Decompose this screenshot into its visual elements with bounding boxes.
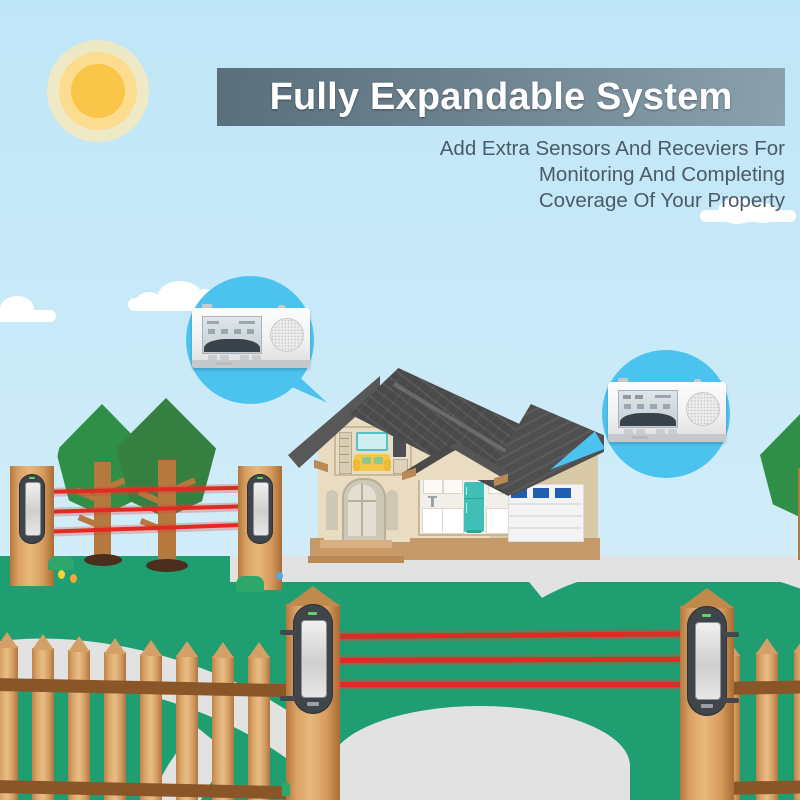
- subtitle-line-3: Coverage Of Your Property: [330, 188, 785, 214]
- sensor-post-front-right[interactable]: [676, 588, 738, 800]
- alarm-panel-left[interactable]: [192, 308, 310, 368]
- flower: [276, 572, 283, 580]
- subtitle-block: Add Extra Sensors And Receviers For Moni…: [330, 136, 785, 214]
- title-banner: Fully Expandable System: [217, 68, 785, 126]
- grass-tuft: [236, 576, 264, 592]
- alarm-panel-right[interactable]: [608, 382, 726, 442]
- grass-tuft: [48, 556, 74, 570]
- cutaway-house: [290, 358, 590, 563]
- flower: [58, 570, 65, 579]
- sun-icon: [47, 40, 149, 142]
- sensor-post-front-left[interactable]: [282, 586, 344, 800]
- callout-right[interactable]: [596, 350, 738, 482]
- picket-fence-left: [0, 630, 294, 800]
- subtitle-line-1: Add Extra Sensors And Receviers For: [330, 136, 785, 162]
- callout-left[interactable]: [186, 276, 328, 408]
- marketing-scene: Fully Expandable System Add Extra Sensor…: [0, 0, 800, 800]
- flower: [70, 574, 77, 583]
- tree-right-edge: [760, 408, 800, 558]
- subtitle-line-2: Monitoring And Completing: [330, 162, 785, 188]
- sensor-post-back-mid[interactable]: [238, 466, 282, 590]
- cloud-far-left: [0, 296, 56, 322]
- page-title: Fully Expandable System: [270, 76, 733, 119]
